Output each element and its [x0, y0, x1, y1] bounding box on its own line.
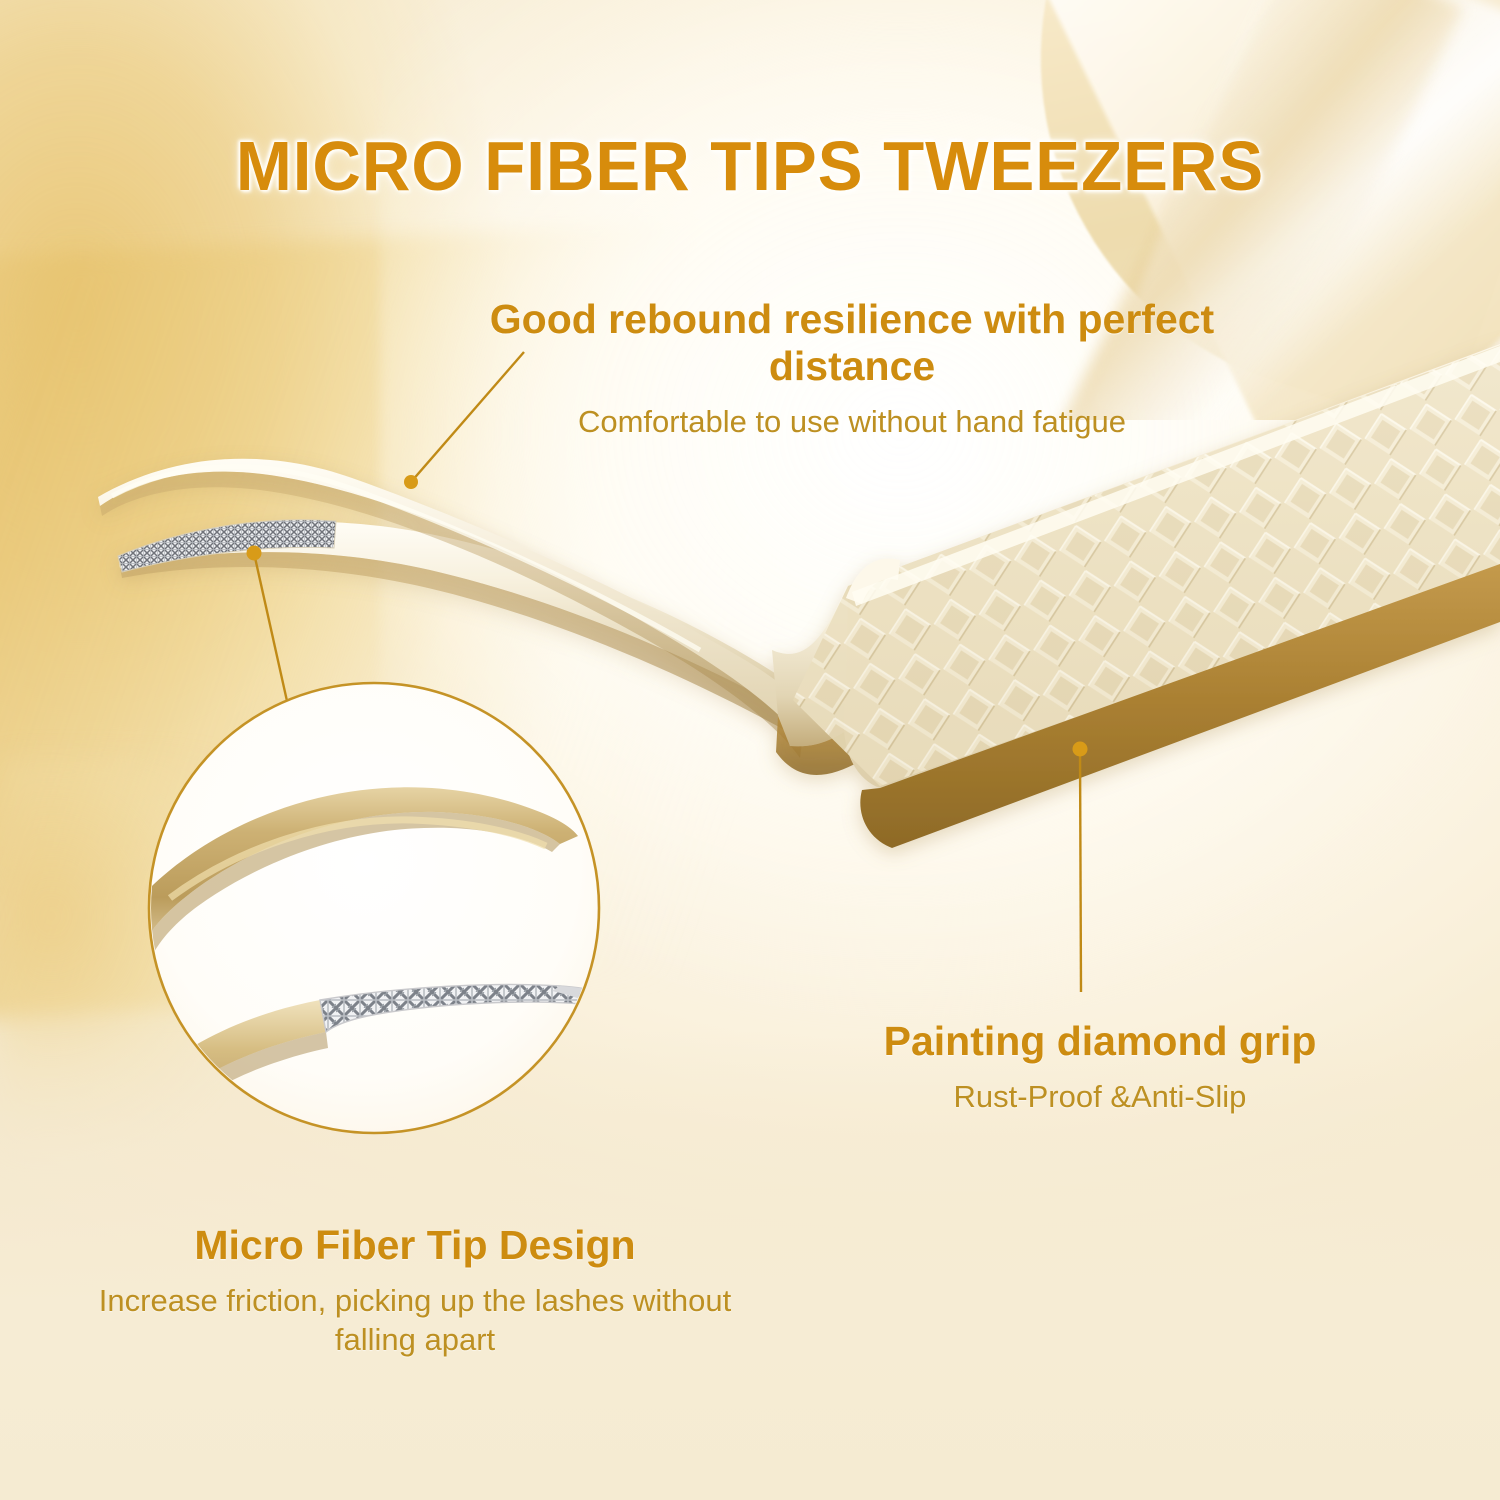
- callout-micro-fiber-tip: Micro Fiber Tip Design Increase friction…: [60, 1222, 770, 1359]
- callout-rebound: Good rebound resilience with perfect dis…: [452, 296, 1252, 442]
- callout-grip: Painting diamond grip Rust-Proof &Anti-S…: [770, 1018, 1430, 1116]
- callout-grip-heading: Painting diamond grip: [770, 1018, 1430, 1065]
- infographic-canvas: MICRO FIBER TIPS TWEEZERS Good rebound r…: [0, 0, 1500, 1500]
- page-title: MICRO FIBER TIPS TWEEZERS: [30, 126, 1470, 206]
- tip-detail-magnifier: [128, 683, 610, 1133]
- callout-rebound-subtext: Comfortable to use without hand fatigue: [452, 402, 1252, 441]
- callout-tip-heading: Micro Fiber Tip Design: [60, 1222, 770, 1269]
- callout-tip-subtext: Increase friction, picking up the lashes…: [60, 1281, 770, 1359]
- callout-rebound-heading: Good rebound resilience with perfect dis…: [452, 296, 1252, 389]
- callout-grip-subtext: Rust-Proof &Anti-Slip: [770, 1077, 1430, 1116]
